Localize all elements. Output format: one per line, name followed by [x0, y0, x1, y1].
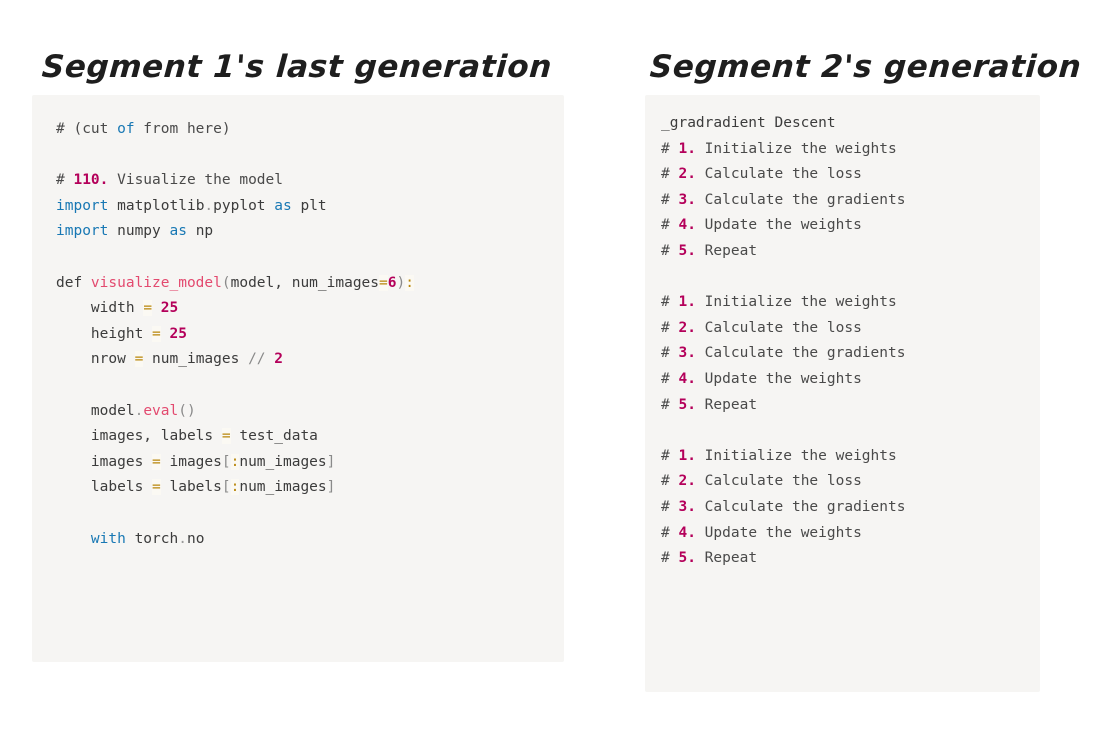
code-line: model.eval()	[56, 399, 548, 425]
code-token-func: eval	[143, 403, 178, 419]
code-line: # 5. Repeat	[661, 546, 1024, 572]
code-token-keyword: with	[91, 531, 126, 547]
code-token-number: 5.	[678, 550, 695, 566]
code-line: height = 25	[56, 322, 548, 348]
code-token-default: labels	[56, 479, 152, 495]
code-token-op: =	[152, 326, 161, 342]
code-token-default: images	[56, 454, 152, 470]
code-line: # 4. Update the weights	[661, 367, 1024, 393]
code-line: def visualize_model(model, num_images=6)…	[56, 271, 548, 297]
code-line: images, labels = test_data	[56, 424, 548, 450]
code-line: # 2. Calculate the loss	[661, 469, 1024, 495]
code-token-comment: #	[661, 473, 678, 489]
code-token-comment: #	[661, 448, 678, 464]
code-token-number: 110.	[73, 172, 108, 188]
code-token-func: visualize_model	[91, 275, 222, 291]
code-token-default: labels	[161, 479, 222, 495]
code-token-op: =	[135, 351, 144, 367]
code-token-comment: #	[661, 550, 678, 566]
code-token-comment: Initialize the weights	[696, 294, 897, 310]
code-token-default: num_images	[143, 351, 248, 367]
code-line: # 1. Initialize the weights	[661, 137, 1024, 163]
code-token-comment: #	[661, 166, 678, 182]
code-line	[661, 265, 1024, 291]
code-token-number: 25	[170, 326, 187, 342]
code-token-comment: Calculate the gradients	[696, 345, 906, 361]
code-token-default: no	[187, 531, 204, 547]
code-token-op: :	[405, 275, 414, 291]
code-token-op: =	[152, 479, 161, 495]
code-token-punct: )	[396, 275, 405, 291]
code-token-comment: Initialize the weights	[696, 448, 897, 464]
code-token-punct: [	[222, 479, 231, 495]
code-line: # 110. Visualize the model	[56, 168, 548, 194]
code-token-comment: #	[661, 371, 678, 387]
segment-2-title: Segment 2's generation	[649, 49, 1083, 85]
code-token-comment: Repeat	[696, 550, 757, 566]
code-line: # 2. Calculate the loss	[661, 162, 1024, 188]
code-token-default: num_images	[239, 454, 326, 470]
code-token-op: =	[379, 275, 388, 291]
code-token-default: images, labels	[56, 428, 222, 444]
code-token-dot: .	[178, 531, 187, 547]
code-token-comment: Calculate the loss	[696, 473, 862, 489]
code-token-default: num_images	[239, 479, 326, 495]
code-token-default: model, num_images	[231, 275, 379, 291]
code-token-number: 3.	[678, 345, 695, 361]
code-token-op: =	[143, 300, 152, 316]
code-token-comment: Calculate the gradients	[696, 499, 906, 515]
code-token-punct: ]	[327, 454, 336, 470]
code-token-comment: Update the weights	[696, 371, 862, 387]
code-token-default: np	[187, 223, 213, 239]
code-line: # 2. Calculate the loss	[661, 316, 1024, 342]
code-token-default	[152, 300, 161, 316]
code-line	[56, 501, 548, 527]
code-line	[56, 143, 548, 169]
code-token-dot: .	[135, 403, 144, 419]
code-token-number: 3.	[678, 499, 695, 515]
code-token-default: torch	[126, 531, 178, 547]
code-line: import numpy as np	[56, 219, 548, 245]
code-line: # (cut of from here)	[56, 117, 548, 143]
code-token-number: 2.	[678, 320, 695, 336]
code-line: # 4. Update the weights	[661, 213, 1024, 239]
code-token-number: 1.	[678, 448, 695, 464]
code-token-keyword: as	[274, 198, 291, 214]
code-token-op: =	[152, 454, 161, 470]
code-token-comment: Update the weights	[696, 525, 862, 541]
code-token-keyword: import	[56, 198, 108, 214]
code-token-comment: Update the weights	[696, 217, 862, 233]
code-token-default: model	[56, 403, 135, 419]
code-token-number: 4.	[678, 371, 695, 387]
code-line: with torch.no	[56, 527, 548, 553]
code-token-default: images	[161, 454, 222, 470]
segment-2-code-block[interactable]: _gradradient Descent# 1. Initialize the …	[645, 95, 1040, 692]
code-token-default: _gradradient Descent	[661, 115, 836, 131]
code-token-comment: Calculate the loss	[696, 166, 862, 182]
code-token-punct: //	[248, 351, 265, 367]
code-line: # 4. Update the weights	[661, 521, 1024, 547]
code-token-comment: Calculate the loss	[696, 320, 862, 336]
code-token-comment: #	[661, 294, 678, 310]
code-line	[661, 418, 1024, 444]
code-token-op: =	[222, 428, 231, 444]
code-token-number: 1.	[678, 141, 695, 157]
code-token-default: pyplot	[213, 198, 274, 214]
code-token-comment: #	[661, 243, 678, 259]
code-line: # 3. Calculate the gradients	[661, 188, 1024, 214]
code-token-number: 2.	[678, 473, 695, 489]
code-token-keyword: import	[56, 223, 108, 239]
page-root: Segment 1's last generation Segment 2's …	[0, 0, 1108, 730]
code-token-comment: #	[661, 525, 678, 541]
code-line: # 1. Initialize the weights	[661, 290, 1024, 316]
code-token-comment: Initialize the weights	[696, 141, 897, 157]
code-token-comment: #	[661, 320, 678, 336]
code-token-number: 1.	[678, 294, 695, 310]
code-token-default: test_data	[231, 428, 318, 444]
code-token-number: 3.	[678, 192, 695, 208]
code-token-default: def	[56, 275, 91, 291]
code-token-default: nrow	[56, 351, 135, 367]
code-token-number: 2	[274, 351, 283, 367]
code-token-number: 25	[161, 300, 178, 316]
code-token-punct: ()	[178, 403, 195, 419]
code-line: # 1. Initialize the weights	[661, 444, 1024, 470]
code-token-comment: #	[661, 141, 678, 157]
code-token-comment: from here)	[135, 121, 231, 137]
code-token-default	[161, 326, 170, 342]
code-token-comment: # (cut	[56, 121, 117, 137]
code-token-default: plt	[292, 198, 327, 214]
code-token-number: 5.	[678, 397, 695, 413]
code-line: # 5. Repeat	[661, 393, 1024, 419]
code-token-comment: #	[661, 397, 678, 413]
code-token-comment: Repeat	[696, 243, 757, 259]
code-line: nrow = num_images // 2	[56, 347, 548, 373]
code-line: images = images[:num_images]	[56, 450, 548, 476]
code-line: # 5. Repeat	[661, 239, 1024, 265]
code-line: width = 25	[56, 296, 548, 322]
code-token-default	[56, 531, 91, 547]
code-token-number: 2.	[678, 166, 695, 182]
code-token-keyword: of	[117, 121, 134, 137]
code-line: _gradradient Descent	[661, 111, 1024, 137]
code-token-default: height	[56, 326, 152, 342]
code-token-number: 4.	[678, 525, 695, 541]
code-token-comment: Visualize the model	[108, 172, 283, 188]
segment-1-title: Segment 1's last generation	[41, 49, 554, 85]
code-token-comment: #	[56, 172, 73, 188]
code-token-comment: #	[661, 217, 678, 233]
code-line	[56, 373, 548, 399]
code-line: # 3. Calculate the gradients	[661, 495, 1024, 521]
code-token-default: width	[56, 300, 143, 316]
code-token-default: numpy	[108, 223, 169, 239]
segment-1-code-block[interactable]: # (cut of from here) # 110. Visualize th…	[32, 95, 564, 662]
code-token-comment: Repeat	[696, 397, 757, 413]
code-token-default	[266, 351, 275, 367]
code-token-default: matplotlib	[108, 198, 204, 214]
code-token-dot: .	[204, 198, 213, 214]
code-token-punct: [	[222, 454, 231, 470]
code-line: import matplotlib.pyplot as plt	[56, 194, 548, 220]
code-line: labels = labels[:num_images]	[56, 475, 548, 501]
code-token-punct: (	[222, 275, 231, 291]
code-line	[56, 245, 548, 271]
code-token-comment: Calculate the gradients	[696, 192, 906, 208]
code-token-comment: #	[661, 499, 678, 515]
code-line: # 3. Calculate the gradients	[661, 341, 1024, 367]
code-token-punct: ]	[327, 479, 336, 495]
code-token-number: 4.	[678, 217, 695, 233]
code-token-keyword: as	[170, 223, 187, 239]
code-token-number: 5.	[678, 243, 695, 259]
code-token-comment: #	[661, 345, 678, 361]
code-token-comment: #	[661, 192, 678, 208]
